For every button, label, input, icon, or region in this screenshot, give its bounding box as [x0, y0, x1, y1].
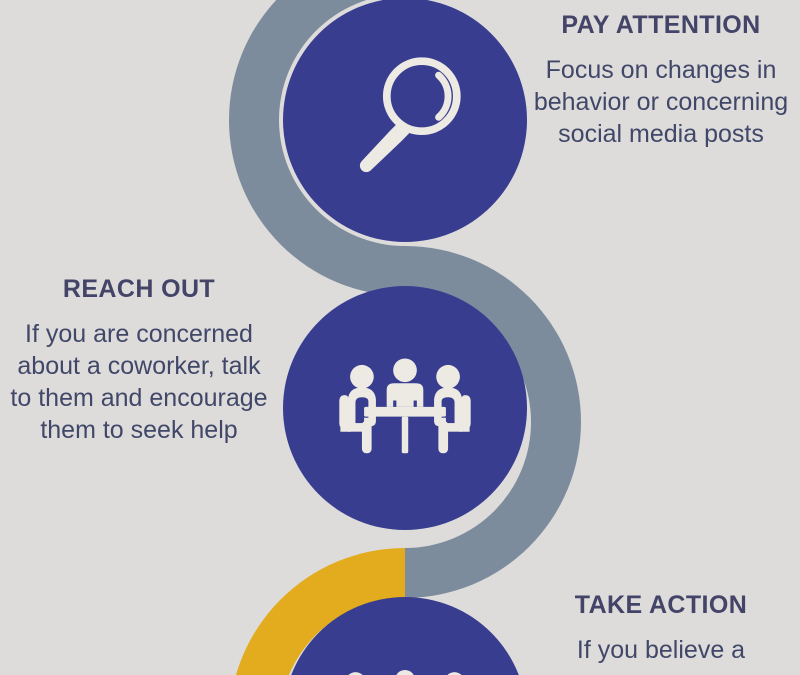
group-people-icon	[330, 650, 480, 675]
step-body-reach-out: If you are concerned about a coworker, t…	[8, 318, 270, 446]
step-body-pay-attention: Focus on changes in behavior or concerni…	[530, 54, 792, 150]
step-title-pay-attention: PAY ATTENTION	[530, 12, 792, 40]
step-text-reach-out: REACH OUT If you are concerned about a c…	[8, 276, 270, 446]
step-text-pay-attention: PAY ATTENTION Focus on changes in behavi…	[530, 12, 792, 150]
step-title-reach-out: REACH OUT	[8, 276, 270, 304]
meeting-table-icon	[335, 338, 475, 478]
step-circle-reach-out	[283, 286, 527, 530]
step-title-take-action: TAKE ACTION	[530, 592, 792, 620]
step-circle-pay-attention	[283, 0, 527, 242]
magnifying-glass-icon	[335, 50, 475, 190]
step-text-take-action: TAKE ACTION If you believe a	[530, 592, 792, 666]
infographic-canvas: PAY ATTENTION Focus on changes in behavi…	[0, 0, 800, 675]
step-body-take-action: If you believe a	[530, 634, 792, 666]
